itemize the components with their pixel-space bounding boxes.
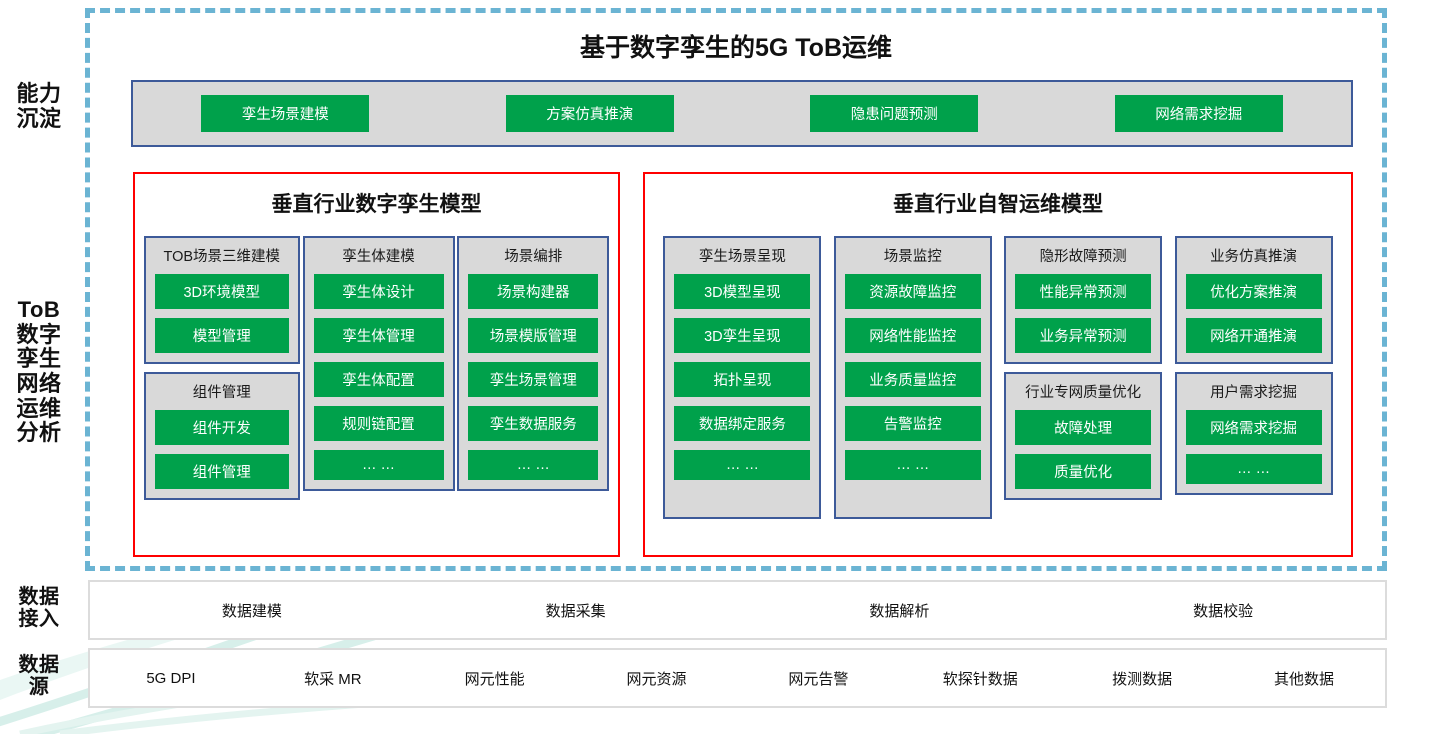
module-item[interactable]: 孪生体设计 (314, 274, 444, 309)
module-item[interactable]: 孪生场景管理 (468, 362, 598, 397)
model-column: 场景编排场景构建器场景模版管理孪生场景管理孪生数据服务… … (457, 236, 609, 500)
module-item[interactable]: 孪生体管理 (314, 318, 444, 353)
module-item[interactable]: 组件开发 (155, 410, 289, 445)
module-group: 孪生体建模孪生体设计孪生体管理孪生体配置规则链配置… … (303, 236, 455, 491)
module-item[interactable]: 优化方案推演 (1186, 274, 1322, 309)
data-source-item: 软探针数据 (899, 668, 1061, 689)
data-source-item: 其他数据 (1223, 668, 1385, 689)
row-label-line: 接入 (0, 608, 78, 630)
module-item[interactable]: … … (845, 450, 981, 480)
module-item[interactable]: 孪生体配置 (314, 362, 444, 397)
panel-digital-twin-model: 垂直行业数字孪生模型 TOB场景三维建模3D环境模型模型管理组件管理组件开发组件… (133, 172, 620, 557)
model-column: 隐形故障预测性能异常预测业务异常预测行业专网质量优化故障处理质量优化 (1004, 236, 1162, 519)
panel-title-autonomous-ops-model: 垂直行业自智运维模型 (645, 188, 1351, 218)
capability-chip[interactable]: 隐患问题预测 (810, 95, 978, 132)
module-item[interactable]: 模型管理 (155, 318, 289, 353)
module-group-title: 场景监控 (845, 245, 981, 266)
capability-band: 孪生场景建模方案仿真推演隐患问题预测网络需求挖掘 (131, 80, 1353, 147)
row-label-data-access: 数据接入 (0, 586, 78, 631)
module-group-title: 业务仿真推演 (1186, 245, 1322, 266)
module-group: 场景编排场景构建器场景模版管理孪生场景管理孪生数据服务… … (457, 236, 609, 491)
module-group-title: 隐形故障预测 (1015, 245, 1151, 266)
module-group: 组件管理组件开发组件管理 (144, 372, 300, 500)
module-item[interactable]: … … (314, 450, 444, 480)
data-source-item: 拨测数据 (1061, 668, 1223, 689)
capability-chip[interactable]: 方案仿真推演 (506, 95, 674, 132)
module-item[interactable]: … … (674, 450, 810, 480)
module-group-title: 组件管理 (155, 381, 289, 402)
module-item[interactable]: 网络需求挖掘 (1186, 410, 1322, 445)
capability-cell: 隐患问题预测 (742, 95, 1047, 132)
data-access-item: 数据建模 (90, 600, 414, 621)
module-item[interactable]: 质量优化 (1015, 454, 1151, 489)
module-item[interactable]: 场景构建器 (468, 274, 598, 309)
module-group: 场景监控资源故障监控网络性能监控业务质量监控告警监控… … (834, 236, 992, 519)
row-label-data-source: 数据源 (0, 654, 78, 699)
ops-columns: 孪生场景呈现3D模型呈现3D孪生呈现拓扑呈现数据绑定服务… …场景监控资源故障监… (645, 236, 1351, 519)
capability-cell: 网络需求挖掘 (1047, 95, 1352, 132)
module-item[interactable]: 网络开通推演 (1186, 318, 1322, 353)
module-item[interactable]: 孪生数据服务 (468, 406, 598, 441)
module-item[interactable]: 3D环境模型 (155, 274, 289, 309)
row-label-capability: 能力沉淀 (0, 82, 78, 131)
model-column: 场景监控资源故障监控网络性能监控业务质量监控告警监控… … (834, 236, 992, 519)
model-column: 孪生体建模孪生体设计孪生体管理孪生体配置规则链配置… … (303, 236, 455, 500)
module-item[interactable]: 场景模版管理 (468, 318, 598, 353)
data-access-item: 数据校验 (1061, 600, 1385, 621)
module-group-title: 行业专网质量优化 (1015, 381, 1151, 402)
module-item[interactable]: 3D模型呈现 (674, 274, 810, 309)
data-source-item: 网元资源 (576, 668, 738, 689)
module-item[interactable]: 拓扑呈现 (674, 362, 810, 397)
row-label-line: 源 (0, 676, 78, 698)
module-group-title: TOB场景三维建模 (155, 245, 289, 266)
module-item[interactable]: 组件管理 (155, 454, 289, 489)
data-source-item: 软采 MR (252, 668, 414, 689)
data-source-item: 网元性能 (414, 668, 576, 689)
module-group: 孪生场景呈现3D模型呈现3D孪生呈现拓扑呈现数据绑定服务… … (663, 236, 821, 519)
row-label-line: 孪生 (0, 347, 78, 372)
model-column: 孪生场景呈现3D模型呈现3D孪生呈现拓扑呈现数据绑定服务… … (663, 236, 821, 519)
capability-cell: 孪生场景建模 (133, 95, 438, 132)
model-column: TOB场景三维建模3D环境模型模型管理组件管理组件开发组件管理 (144, 236, 300, 500)
twin-columns: TOB场景三维建模3D环境模型模型管理组件管理组件开发组件管理孪生体建模孪生体设… (135, 236, 618, 500)
module-group-title: 用户需求挖掘 (1186, 381, 1322, 402)
module-group-title: 场景编排 (468, 245, 598, 266)
row-label-line: 网络 (0, 372, 78, 397)
module-item[interactable]: 故障处理 (1015, 410, 1151, 445)
row-label-line: 分析 (0, 421, 78, 446)
data-access-band: 数据建模数据采集数据解析数据校验 (88, 580, 1387, 640)
module-item[interactable]: 业务质量监控 (845, 362, 981, 397)
model-column: 业务仿真推演优化方案推演网络开通推演用户需求挖掘网络需求挖掘… … (1175, 236, 1333, 519)
module-group: 行业专网质量优化故障处理质量优化 (1004, 372, 1162, 500)
capability-cell: 方案仿真推演 (438, 95, 743, 132)
module-item[interactable]: 告警监控 (845, 406, 981, 441)
row-label-line: 沉淀 (0, 107, 78, 132)
capability-chip[interactable]: 孪生场景建模 (201, 95, 369, 132)
module-item[interactable]: 资源故障监控 (845, 274, 981, 309)
data-source-item: 5G DPI (90, 670, 252, 687)
module-group: TOB场景三维建模3D环境模型模型管理 (144, 236, 300, 364)
row-label-line: 数字 (0, 323, 78, 348)
row-label-line: 能力 (0, 82, 78, 107)
module-item[interactable]: 规则链配置 (314, 406, 444, 441)
module-item[interactable]: 网络性能监控 (845, 318, 981, 353)
row-label-line: ToB (0, 298, 78, 323)
data-source-item: 网元告警 (738, 668, 900, 689)
module-item[interactable]: 数据绑定服务 (674, 406, 810, 441)
module-item[interactable]: 3D孪生呈现 (674, 318, 810, 353)
slide-canvas: 能力沉淀 ToB数字孪生网络运维分析 数据接入 数据源 基于数字孪生的5G To… (0, 0, 1438, 734)
data-access-item: 数据解析 (738, 600, 1062, 621)
module-group: 隐形故障预测性能异常预测业务异常预测 (1004, 236, 1162, 364)
module-group: 用户需求挖掘网络需求挖掘… … (1175, 372, 1333, 495)
module-item[interactable]: 性能异常预测 (1015, 274, 1151, 309)
module-item[interactable]: 业务异常预测 (1015, 318, 1151, 353)
module-item[interactable]: … … (1186, 454, 1322, 484)
module-group: 业务仿真推演优化方案推演网络开通推演 (1175, 236, 1333, 364)
capability-chip[interactable]: 网络需求挖掘 (1115, 95, 1283, 132)
row-label-line: 运维 (0, 397, 78, 422)
page-title: 基于数字孪生的5G ToB运维 (85, 28, 1387, 64)
row-label-tob-analysis: ToB数字孪生网络运维分析 (0, 298, 78, 446)
panel-autonomous-ops-model: 垂直行业自智运维模型 孪生场景呈现3D模型呈现3D孪生呈现拓扑呈现数据绑定服务…… (643, 172, 1353, 557)
data-source-band: 5G DPI软采 MR网元性能网元资源网元告警软探针数据拨测数据其他数据 (88, 648, 1387, 708)
row-label-line: 数据 (0, 654, 78, 676)
module-group-title: 孪生场景呈现 (674, 245, 810, 266)
module-item[interactable]: … … (468, 450, 598, 480)
module-group-title: 孪生体建模 (314, 245, 444, 266)
data-access-item: 数据采集 (414, 600, 738, 621)
row-label-line: 数据 (0, 586, 78, 608)
panel-title-digital-twin-model: 垂直行业数字孪生模型 (135, 188, 618, 218)
